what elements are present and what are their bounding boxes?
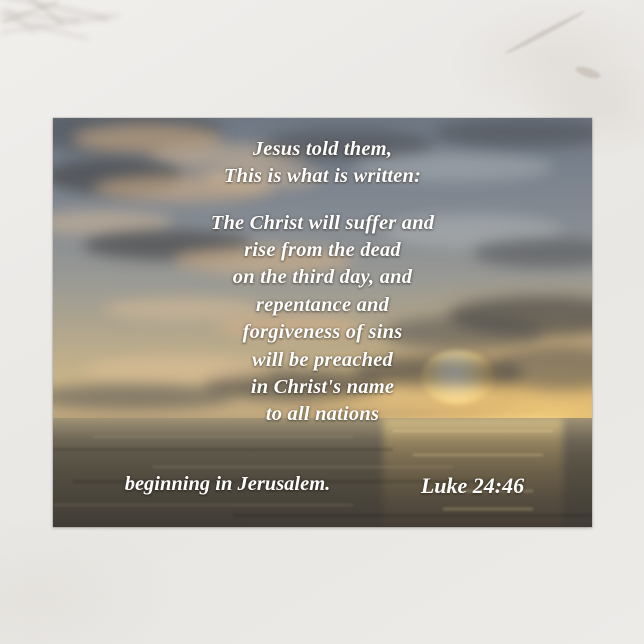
wave-highlight: [413, 454, 543, 456]
wave-highlight: [393, 430, 553, 432]
cloud: [353, 152, 553, 182]
wave-shadow: [233, 514, 592, 517]
wave-highlight: [53, 504, 353, 506]
cloud: [173, 246, 353, 274]
marble-vein: [504, 9, 586, 56]
marble-vein: [574, 64, 602, 81]
wave-shadow: [53, 448, 393, 451]
cloud: [103, 298, 263, 320]
postcard[interactable]: Jesus told them, This is what is written…: [53, 118, 592, 527]
cloud: [203, 166, 323, 188]
cloud: [83, 356, 273, 384]
scripture-reference-row: Luke 24:46: [53, 473, 592, 499]
wave-highlight: [443, 508, 533, 510]
scripture-reference: Luke 24:46: [121, 473, 524, 499]
wave-highlight: [153, 466, 453, 468]
wave-highlight: [93, 436, 353, 438]
cloud: [213, 314, 363, 338]
cloud: [383, 316, 543, 350]
